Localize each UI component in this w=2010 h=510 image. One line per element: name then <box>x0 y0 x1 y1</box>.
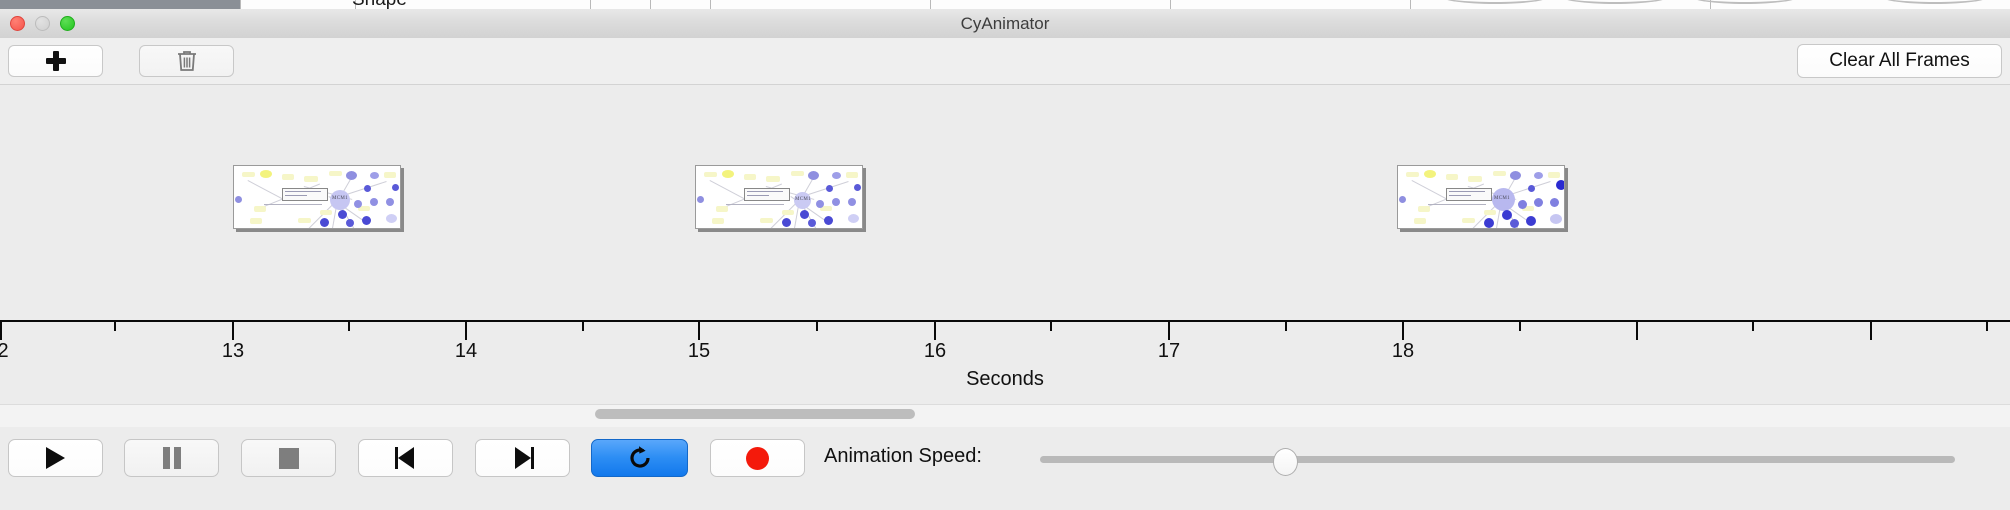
play-button[interactable] <box>8 439 103 477</box>
axis-tick-minor <box>114 322 116 331</box>
axis-tick-major <box>1402 322 1404 340</box>
stop-icon <box>279 448 299 469</box>
axis-label: 17 <box>1158 340 1180 363</box>
axis-tick-major <box>232 322 234 340</box>
background-grid-cell <box>1170 0 1411 9</box>
record-button[interactable] <box>710 439 805 477</box>
axis-tick-minor <box>348 322 350 331</box>
axis-tick-major <box>1870 322 1872 340</box>
skip-back-icon <box>395 447 417 469</box>
axis-tick-minor <box>1050 322 1052 331</box>
background-grid-cell <box>590 0 651 9</box>
frame-thumbnail-2[interactable]: MCM1 <box>695 165 863 229</box>
skip-to-start-button[interactable] <box>358 439 453 477</box>
axis-tick-minor <box>1986 322 1988 331</box>
loop-icon <box>627 445 653 471</box>
axis-tick-minor <box>1752 322 1754 331</box>
playback-control-bar: Animation Speed: <box>0 427 2010 510</box>
background-shape-label: Shape <box>352 0 407 9</box>
trash-icon <box>176 49 198 73</box>
timeline-axis-line <box>0 320 2010 322</box>
animation-speed-slider[interactable] <box>1040 456 1955 463</box>
stop-button[interactable] <box>241 439 336 477</box>
axis-title: Seconds <box>0 368 2010 391</box>
background-grid-cell <box>930 0 1171 9</box>
titlebar[interactable]: CyAnimator <box>0 9 2010 39</box>
axis-tick-major <box>1636 322 1638 340</box>
skip-forward-icon <box>512 447 534 469</box>
window-title: CyAnimator <box>0 9 2010 38</box>
axis-tick-minor <box>582 322 584 331</box>
timeline-scrollbar-track[interactable] <box>0 404 2010 428</box>
record-icon <box>746 447 769 470</box>
pause-icon <box>163 447 181 469</box>
frame-thumbnail-3[interactable]: MCM1 <box>1397 165 1565 229</box>
loop-button[interactable] <box>591 439 688 477</box>
skip-to-end-button[interactable] <box>475 439 570 477</box>
axis-tick-major <box>0 322 2 340</box>
background-grid-cell <box>650 0 711 9</box>
axis-label: 14 <box>455 340 477 363</box>
animation-speed-label: Animation Speed: <box>824 445 982 468</box>
clear-all-frames-button[interactable]: Clear All Frames <box>1797 44 2002 78</box>
timeline-panel[interactable]: MCM1 <box>0 85 2010 321</box>
toolbar: Clear All Frames <box>0 38 2010 85</box>
axis-tick-major <box>1168 322 1170 340</box>
pause-button[interactable] <box>124 439 219 477</box>
background-titlebar-dark <box>0 0 240 9</box>
cyanimator-window: Shape CyAnimator Clear All Frames <box>0 0 2010 510</box>
axis-tick-major <box>465 322 467 340</box>
frame-thumbnail-1[interactable]: MCM1 <box>233 165 401 229</box>
axis-tick-minor <box>1285 322 1287 331</box>
axis-label: 2 <box>0 340 9 363</box>
axis-tick-minor <box>1519 322 1521 331</box>
axis-tick-minor <box>816 322 818 331</box>
add-frame-button[interactable] <box>8 45 103 77</box>
background-window-strip: Shape <box>0 0 2010 9</box>
animation-speed-slider-thumb[interactable] <box>1273 448 1298 476</box>
axis-label: 13 <box>222 340 244 363</box>
play-icon <box>46 447 65 469</box>
timeline-scrollbar-thumb[interactable] <box>595 409 915 419</box>
plus-icon <box>46 51 66 71</box>
axis-label: 15 <box>688 340 710 363</box>
delete-frame-button[interactable] <box>139 45 234 77</box>
axis-tick-major <box>698 322 700 340</box>
background-grid-cell <box>240 0 356 9</box>
axis-label: 16 <box>924 340 946 363</box>
background-grid-cell <box>710 0 931 9</box>
axis-label: 18 <box>1392 340 1414 363</box>
axis-tick-major <box>934 322 936 340</box>
